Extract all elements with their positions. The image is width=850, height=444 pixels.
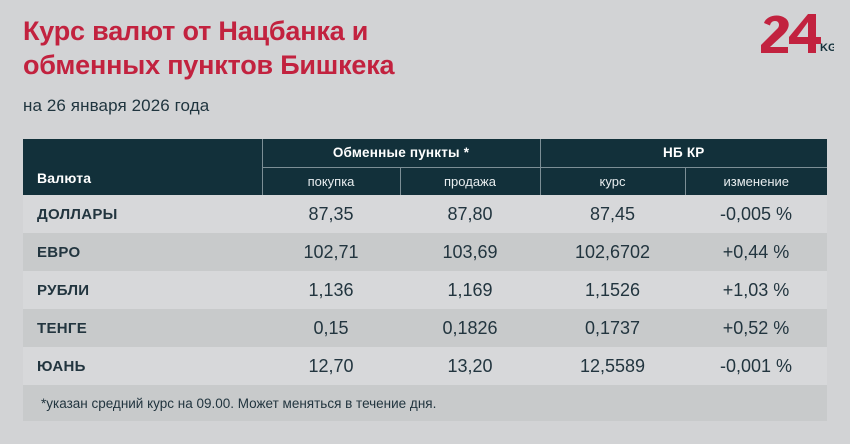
table-row: ЮАНЬ12,7013,2012,5589-0,001 %: [23, 347, 827, 385]
sell-cell: 13,20: [400, 347, 540, 385]
change-cell: +0,52 %: [685, 309, 827, 347]
column-header-currency: Валюта: [23, 139, 262, 195]
currency-cell: ЕВРО: [23, 233, 262, 271]
footnote-text: *указан средний курс на 09.00. Может мен…: [23, 385, 827, 421]
buy-cell: 102,71: [262, 233, 400, 271]
change-cell: +0,44 %: [685, 233, 827, 271]
rate-cell: 102,6702: [540, 233, 685, 271]
currency-cell: РУБЛИ: [23, 271, 262, 309]
page-subtitle: на 26 января 2026 года: [23, 96, 850, 116]
change-cell: -0,005 %: [685, 195, 827, 233]
rate-cell: 0,1737: [540, 309, 685, 347]
column-group-exchange-points: Обменные пункты *: [262, 139, 540, 168]
buy-cell: 87,35: [262, 195, 400, 233]
table-header: Валюта Обменные пункты * НБ КР покупка п…: [23, 139, 827, 195]
table-row: ЕВРО102,71103,69102,6702+0,44 %: [23, 233, 827, 271]
currency-cell: ТЕНГЕ: [23, 309, 262, 347]
sell-cell: 0,1826: [400, 309, 540, 347]
page-title-line-2: обменных пунктов Бишкека: [23, 48, 663, 82]
change-cell: +1,03 %: [685, 271, 827, 309]
24kg-logo-icon: KG: [758, 12, 834, 54]
sell-cell: 1,169: [400, 271, 540, 309]
buy-cell: 0,15: [262, 309, 400, 347]
sell-cell: 103,69: [400, 233, 540, 271]
column-header-sell: продажа: [400, 168, 540, 196]
currency-cell: ЮАНЬ: [23, 347, 262, 385]
table-row: ДОЛЛАРЫ87,3587,8087,45-0,005 %: [23, 195, 827, 233]
table-row: РУБЛИ1,1361,1691,1526+1,03 %: [23, 271, 827, 309]
table-header-group-row: Валюта Обменные пункты * НБ КР: [23, 139, 827, 168]
table-body: ДОЛЛАРЫ87,3587,8087,45-0,005 %ЕВРО102,71…: [23, 195, 827, 385]
table-row: ТЕНГЕ0,150,18260,1737+0,52 %: [23, 309, 827, 347]
change-cell: -0,001 %: [685, 347, 827, 385]
table-footer: *указан средний курс на 09.00. Может мен…: [23, 385, 827, 421]
buy-cell: 12,70: [262, 347, 400, 385]
page-header: Курс валют от Нацбанка и обменных пункто…: [23, 14, 850, 116]
svg-text:KG: KG: [820, 42, 834, 54]
currency-rates-table: Валюта Обменные пункты * НБ КР покупка п…: [23, 139, 827, 421]
rate-cell: 12,5589: [540, 347, 685, 385]
column-header-buy: покупка: [262, 168, 400, 196]
page-title-line-1: Курс валют от Нацбанка и: [23, 14, 663, 48]
brand-logo[interactable]: KG: [758, 12, 834, 54]
rate-cell: 87,45: [540, 195, 685, 233]
buy-cell: 1,136: [262, 271, 400, 309]
currency-cell: ДОЛЛАРЫ: [23, 195, 262, 233]
sell-cell: 87,80: [400, 195, 540, 233]
column-header-change: изменение: [685, 168, 827, 196]
column-header-rate: курс: [540, 168, 685, 196]
footnote-row: *указан средний курс на 09.00. Может мен…: [23, 385, 827, 421]
rate-cell: 1,1526: [540, 271, 685, 309]
page-title: Курс валют от Нацбанка и обменных пункто…: [23, 14, 663, 83]
column-group-nbkr: НБ КР: [540, 139, 827, 168]
